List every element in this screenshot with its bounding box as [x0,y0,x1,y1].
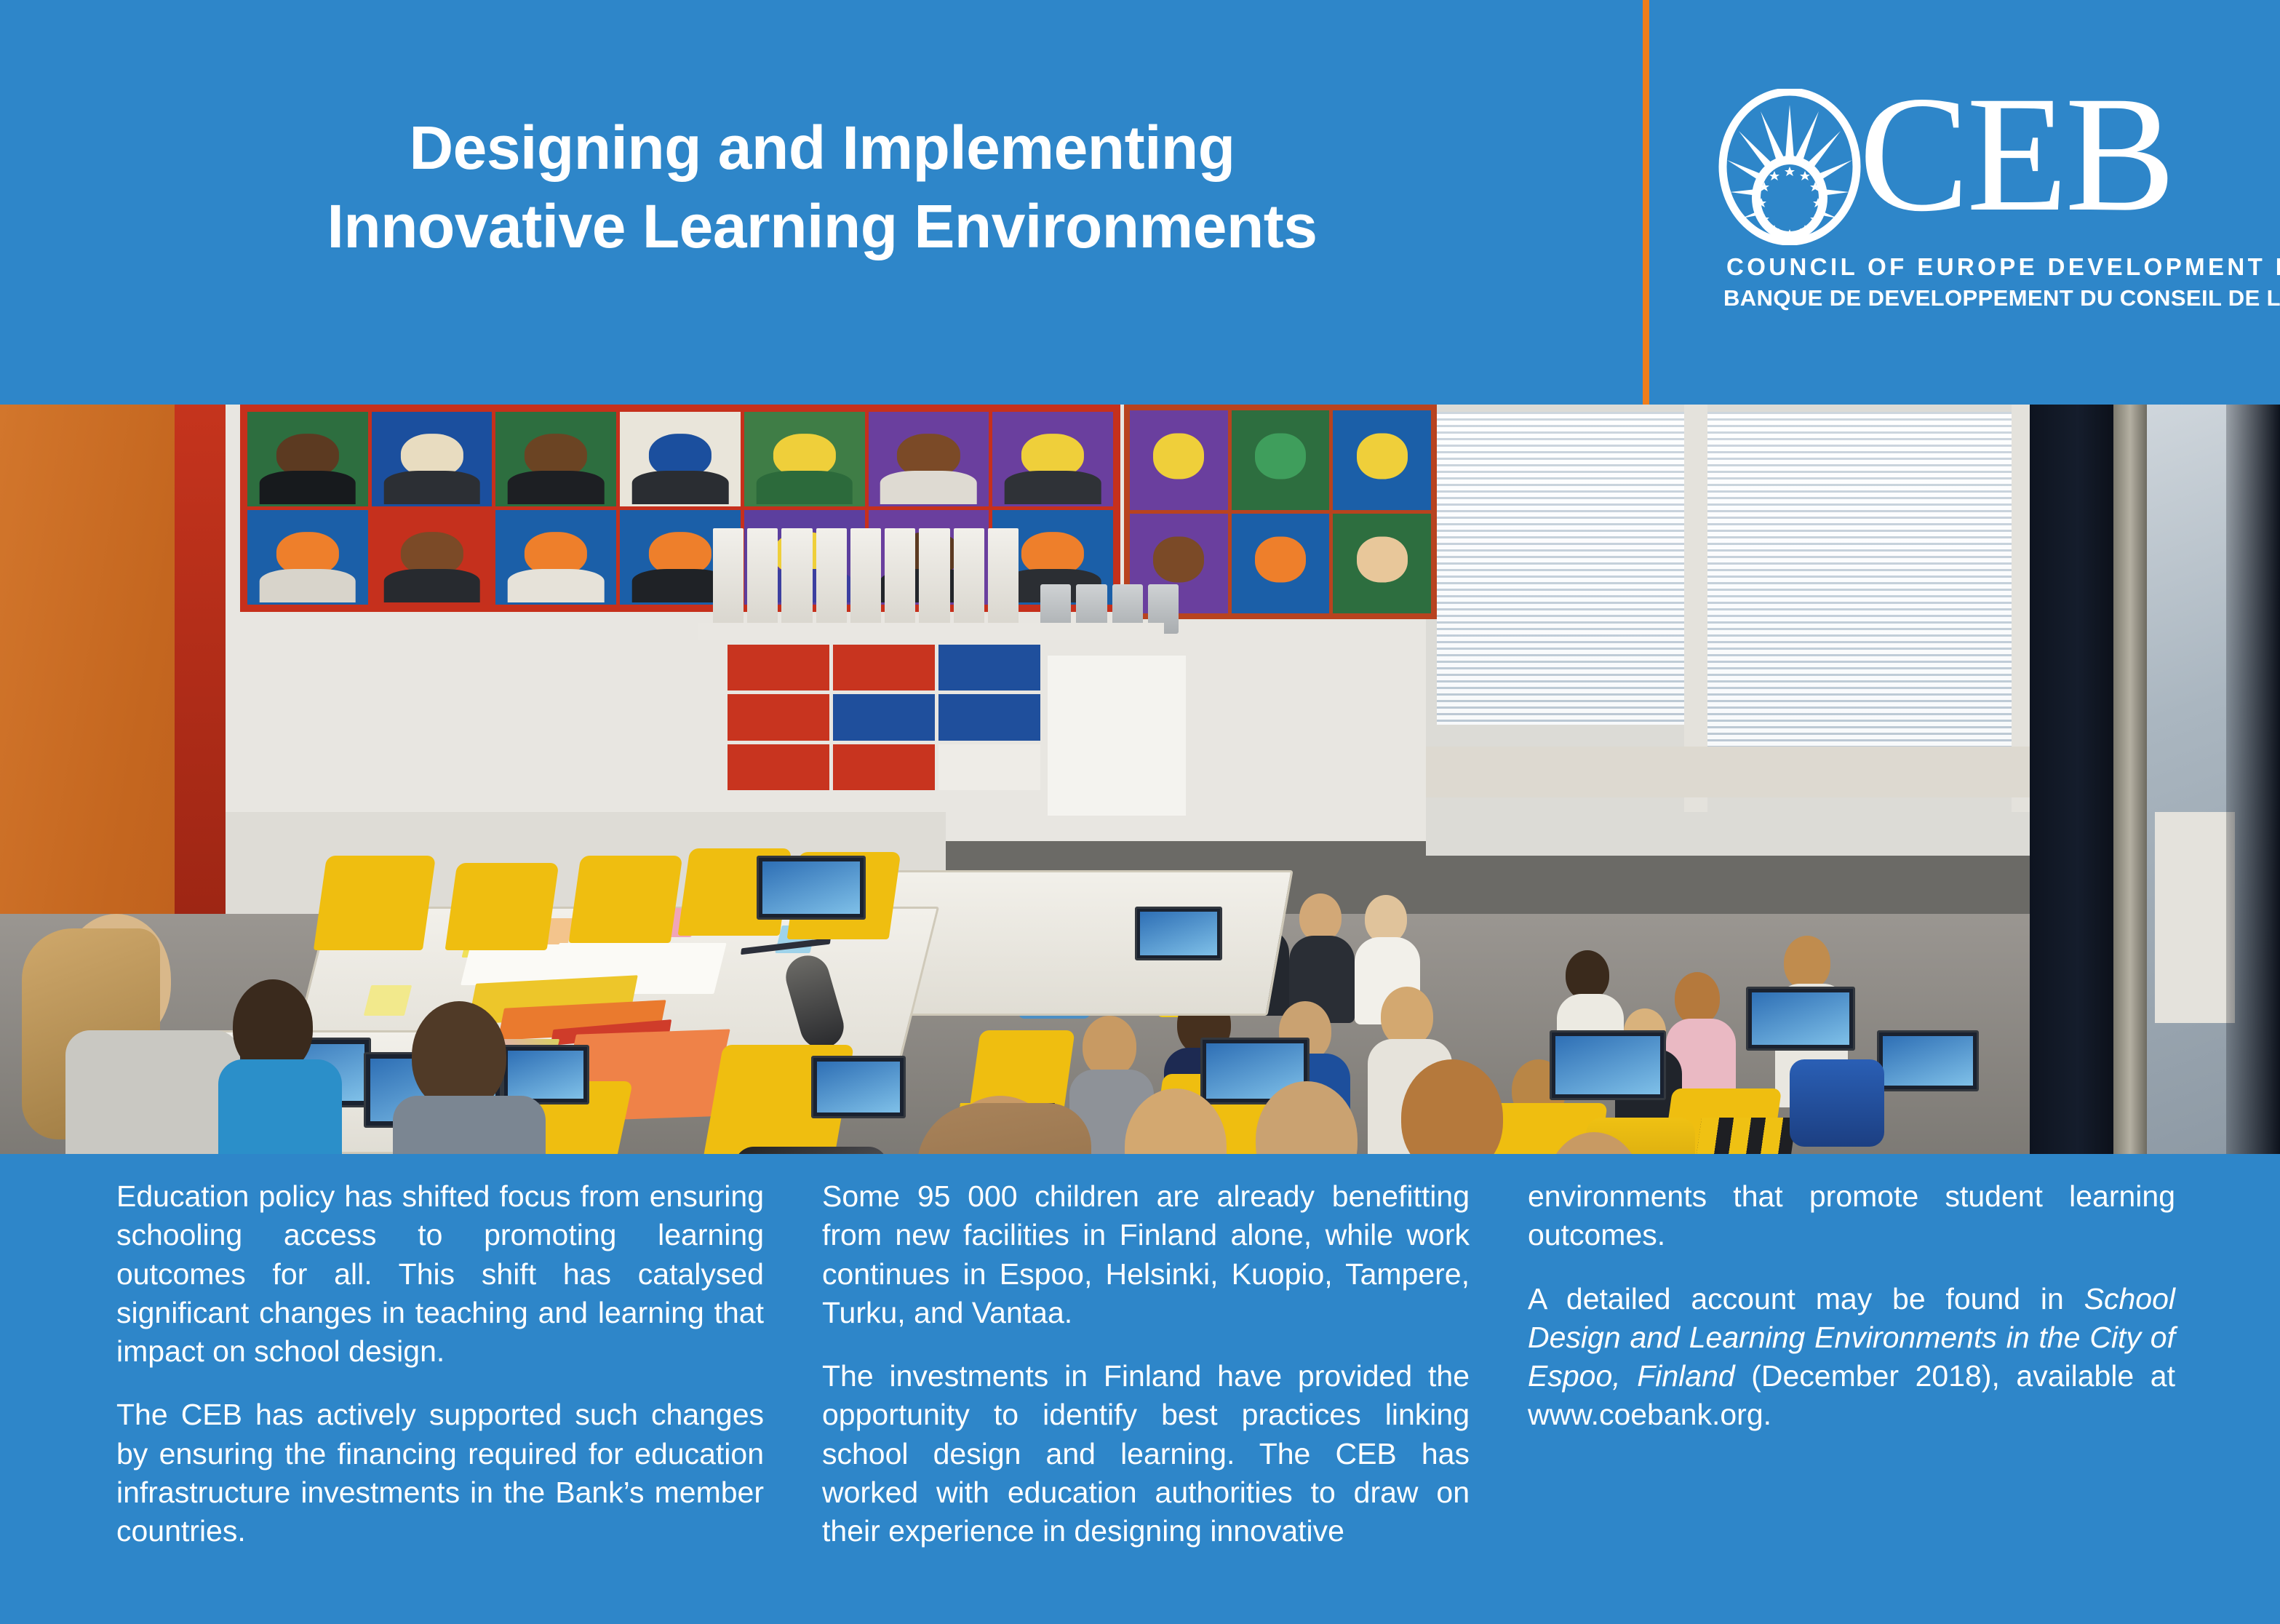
photo-door-shadow [2226,405,2280,1154]
photo-wall-red-column [175,405,226,914]
photo-window-left [1437,412,1684,725]
text-column-2: Some 95 000 children are already benefit… [822,1177,1470,1551]
photo-folder-row [713,528,1019,630]
photo-window-right [1706,412,2012,754]
content-area: Education policy has shifted focus from … [0,1154,2280,1624]
photo-chair [445,863,559,950]
photo-wall-poster [1048,656,1186,816]
logo-subtitle-french: BANQUE DE DEVELOPPEMENT DU CONSEIL DE L’… [1723,285,2280,311]
photo-laptop [1550,1030,1666,1110]
photo-chair [314,856,436,950]
reference-lead: A detailed account may be found in [1528,1282,2084,1315]
photo-laptop [811,1056,906,1126]
photo-storage-cubbies [728,645,1040,790]
photo-laptop [1746,987,1855,1059]
paragraph: environments that promote student learni… [1528,1177,2175,1255]
photo-door-frame [2113,405,2147,1154]
photo-laptop [757,856,866,928]
ceb-wordmark: CEB [1859,71,2172,237]
paragraph: Education policy has shifted focus from … [116,1177,764,1371]
paragraph: The investments in Finland have provided… [822,1357,1470,1551]
text-column-3: environments that promote student learni… [1528,1177,2175,1551]
reference-paragraph: A detailed account may be found in Schoo… [1528,1280,2175,1435]
photo-backpack [735,1147,888,1154]
classroom-photo [0,405,2280,1154]
text-column-1: Education policy has shifted focus from … [116,1177,764,1551]
photo-laptop [1877,1030,1979,1100]
photo-chair [569,856,683,943]
header-divider [1643,0,1649,405]
photo-posted-paper [2155,812,2235,1023]
page-title: Designing and Implementing Innovative Le… [0,109,1644,266]
paragraph: Some 95 000 children are already benefit… [822,1177,1470,1332]
photo-door-dark [2030,405,2117,1154]
ceb-logo: CEB COUNCIL OF EUROPE DEVELOPMENT BANK B… [1713,87,2193,306]
page-header: Designing and Implementing Innovative Le… [0,0,2280,405]
photo-chair-striped [1689,1118,1796,1154]
photo-shelf-ledge [698,623,1164,640]
photo-sticky-note [364,985,412,1016]
photo-window-sill [1426,747,2037,797]
paragraph: The CEB has actively supported such chan… [116,1396,764,1551]
logo-subtitle-english: COUNCIL OF EUROPE DEVELOPMENT BANK [1726,253,2280,281]
text-columns: Education policy has shifted focus from … [116,1177,2175,1551]
photo-backpack [1790,1059,1884,1147]
photo-laptop [1135,907,1222,968]
ceb-sunburst-icon [1717,89,1862,245]
